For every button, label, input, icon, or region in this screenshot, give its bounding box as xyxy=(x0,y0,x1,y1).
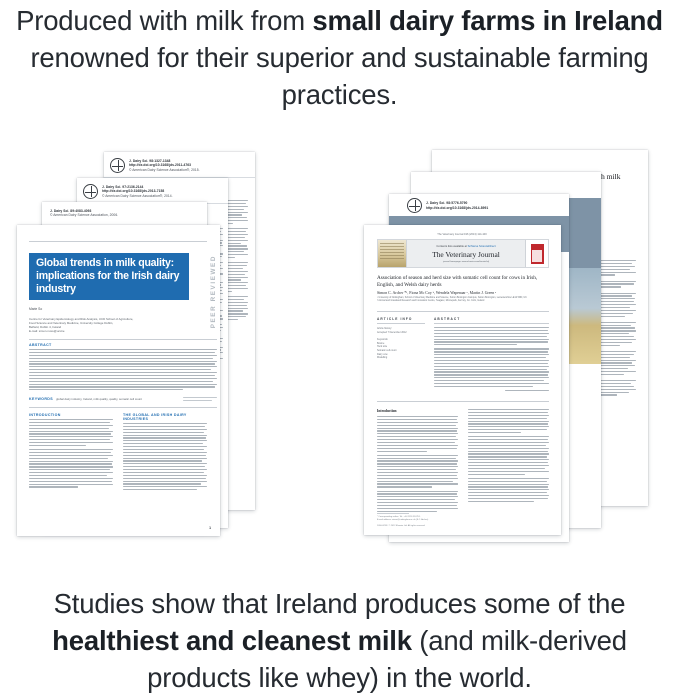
global-industries-column: THE GLOBAL AND IRISH DAIRY INDUSTRIES xyxy=(123,413,207,492)
journal-logo-icon xyxy=(378,240,407,267)
headline-top-text-2: renowned for their superior and sustaina… xyxy=(30,42,648,110)
abstract-section: ABSTRACT KEYWORDS global dairy industry,… xyxy=(29,339,217,408)
page-number: 1 xyxy=(209,526,211,530)
journal-name: The Veterinary Journal xyxy=(432,250,500,259)
promotional-infographic: Produced with milk from small dairy farm… xyxy=(0,0,679,681)
running-head: The Veterinary Journal 196 (2013) 114-10… xyxy=(382,233,542,236)
headline-top: Produced with milk from small dairy farm… xyxy=(0,2,679,113)
abstract-block: ABSTRACT xyxy=(434,317,549,393)
sciencedirect-link[interactable]: SciVerse ScienceDirect xyxy=(468,245,496,248)
document-right-main[interactable]: The Veterinary Journal 196 (2013) 114-10… xyxy=(364,225,561,535)
headline-bottom-text-1: Studies show that Ireland produces some … xyxy=(54,588,626,619)
paper-title-banner: Global trends in milk quality: implicati… xyxy=(29,253,189,300)
headline-top-text-1: Produced with milk from xyxy=(16,5,312,36)
document-left-main[interactable]: PEER REVIEWED Global trends in milk qual… xyxy=(17,225,220,536)
article-footer: * Corresponding author. Tel.: +44 1159 5… xyxy=(377,513,458,527)
article-info-heading: ARTICLE INFO xyxy=(377,317,425,321)
headline-bottom: Studies show that Ireland produces some … xyxy=(0,585,679,696)
affiliation-2: ᵇ Animal and Grassland Research and Inno… xyxy=(377,300,549,303)
journal-masthead: Contents lists available at SciVerse Sci… xyxy=(377,239,549,268)
contents-text: Contents lists available at xyxy=(436,245,467,248)
citation-line-2: http://dx.doi.org/10.3168/jds.2014-8991 xyxy=(426,206,563,210)
journal-globe-icon xyxy=(110,158,125,173)
abstract-body xyxy=(29,349,217,390)
body-column-right xyxy=(468,409,549,504)
paper-author: Marie So xyxy=(29,307,209,311)
footer-issn: 1090-0233 / © 2012 Elsevier Ltd. All rig… xyxy=(377,525,458,527)
citation-line-2: © American Dairy Science Association, 20… xyxy=(50,213,199,217)
citation-line-3: © American Dairy Science Association®, 2… xyxy=(129,168,249,172)
paper-title: Global trends in milk quality: implicati… xyxy=(29,253,189,297)
peer-reviewed-label: PEER REVIEWED xyxy=(210,255,217,328)
intro-heading: INTRODUCTION xyxy=(29,413,113,417)
journal-globe-icon xyxy=(407,198,422,213)
citation-line-3: © American Dairy Science Association®, 2… xyxy=(102,194,222,198)
introduction-heading: Introduction xyxy=(377,409,458,413)
headline-bottom-bold-1: healthiest and cleanest milk xyxy=(52,625,412,656)
citation-header-left-4: J. Dairy Sci. 98:1327-1348 http://dx.doi… xyxy=(104,152,255,178)
keywords-text: global dairy industry, Ireland, milk qua… xyxy=(56,397,180,401)
affiliation-line-4: E-mail: simon.more@ucd.ie xyxy=(29,329,209,333)
citation-header-right-2: J. Dairy Sci. 98:5776-5790 http://dx.doi… xyxy=(389,194,569,215)
abstract-heading: ABSTRACT xyxy=(29,343,217,347)
headline-top-bold-1: small dairy farms in Ireland xyxy=(312,5,663,36)
introduction-column: Introduction xyxy=(377,409,458,514)
citation-header-left-3: J. Dairy Sci. 97:2136-2144 http://dx.doi… xyxy=(77,178,228,204)
info-item: Modelling xyxy=(377,356,425,360)
intro-column: INTRODUCTION xyxy=(29,413,113,489)
footer-email: E-mail address: simon@nottingham.ac.uk (… xyxy=(377,519,458,522)
article-info-block: ARTICLE INFO Article history: Accepted 7… xyxy=(377,317,425,360)
contents-available-line: Contents lists available at SciVerse Sci… xyxy=(436,245,495,248)
industries-heading: THE GLOBAL AND IRISH DAIRY INDUSTRIES xyxy=(123,413,207,421)
journal-homepage-url[interactable]: journal homepage: www.elsevier.com/locat… xyxy=(443,261,489,263)
journal-globe-icon xyxy=(83,184,98,199)
paper-affiliation: Centre for Veterinary Epidemiology and R… xyxy=(29,317,209,333)
keywords-heading: KEYWORDS xyxy=(29,397,53,401)
article-authors: Simon C. Archer *¹, Fiona Mc Coy ᵇ, Wend… xyxy=(377,291,549,295)
article-affiliations: ᵃ University of Nottingham, School of Ve… xyxy=(377,297,549,303)
citation-header-left-2: J. Dairy Sci. 89:4083-4093 © American Da… xyxy=(42,202,207,220)
abstract-heading: ABSTRACT xyxy=(434,317,549,321)
article-title: Association of season and herd size with… xyxy=(377,275,549,289)
journal-cover-thumbnail xyxy=(525,240,548,267)
